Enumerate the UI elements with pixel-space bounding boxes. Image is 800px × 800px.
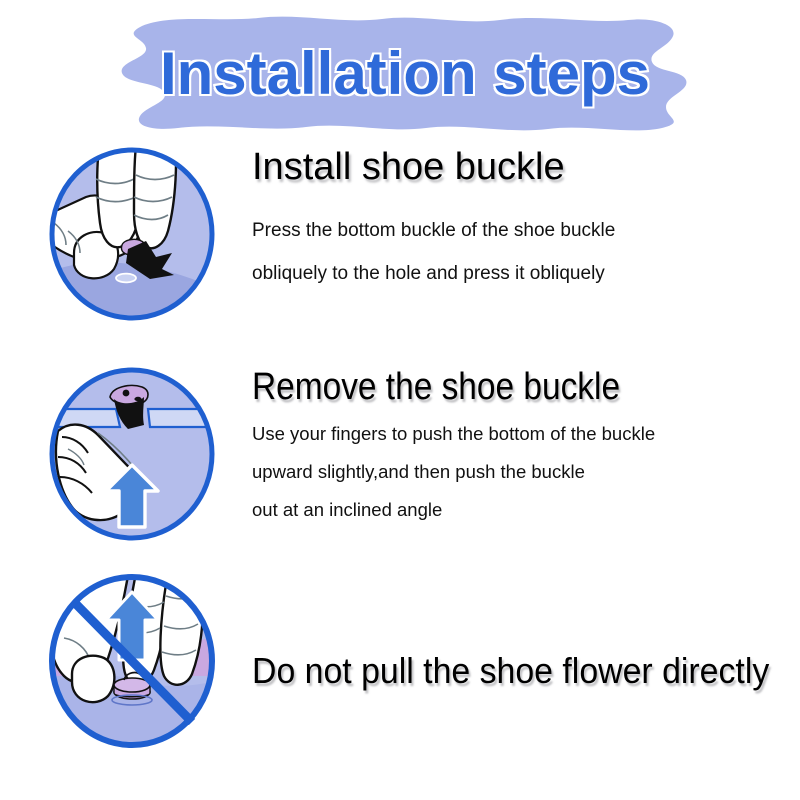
finger-pushing-buckle-upward-illustration bbox=[46, 365, 218, 543]
step-1-text: Install shoe buckle Press the bottom buc… bbox=[252, 145, 792, 295]
step-3-heading: Do not pull the shoe flower directly bbox=[252, 650, 760, 692]
step-2-figure bbox=[46, 365, 218, 543]
step-2-text: Remove the shoe buckle Use your fingers … bbox=[252, 365, 792, 529]
step-1-body-line: obliquely to the hole and press it obliq… bbox=[252, 252, 792, 295]
step-2-body-line: Use your fingers to push the bottom of t… bbox=[252, 415, 792, 453]
step-1-figure bbox=[46, 145, 218, 323]
step-2-body-line: out at an inclined angle bbox=[252, 491, 792, 529]
step-2-body-line: upward slightly,and then push the buckle bbox=[252, 453, 792, 491]
page-title: Installation steps bbox=[100, 12, 710, 134]
pulling-shoe-flower-prohibited-illustration bbox=[46, 572, 218, 750]
step-3-figure bbox=[46, 572, 218, 750]
step-3-text: Do not pull the shoe flower directly bbox=[252, 650, 792, 692]
step-1-body-line: Press the bottom buckle of the shoe buck… bbox=[252, 209, 792, 252]
step-2-body: Use your fingers to push the bottom of t… bbox=[252, 415, 792, 529]
step-1-heading: Install shoe buckle bbox=[252, 145, 792, 189]
installation-steps-banner: Installation steps bbox=[100, 12, 710, 134]
finger-pressing-buckle-illustration bbox=[46, 145, 218, 323]
step-2-heading: Remove the shoe buckle bbox=[252, 365, 727, 409]
step-1-body: Press the bottom buckle of the shoe buck… bbox=[252, 209, 792, 295]
